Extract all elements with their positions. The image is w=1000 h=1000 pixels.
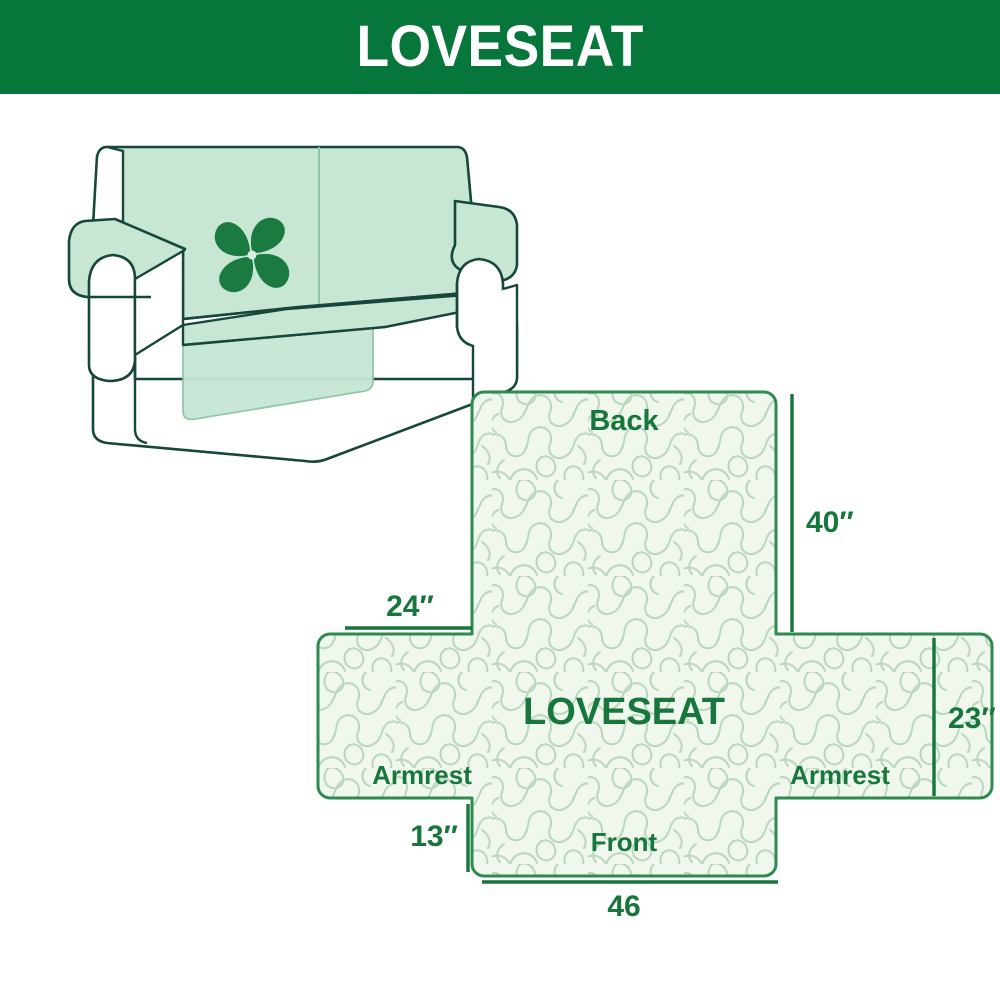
panel-label-armrest-left: Armrest — [372, 760, 472, 790]
dimension-back-height: 40″ — [792, 394, 854, 632]
panel-label-front: Front — [591, 827, 658, 857]
panel-label-center: LOVESEAT — [523, 691, 725, 733]
panel-label-back: Back — [589, 405, 659, 437]
armrest-left-roll — [89, 255, 135, 381]
flat-pattern-diagram: Back LOVESEAT Armrest Armrest Front 40″ … — [300, 384, 1000, 974]
svg-text:24″: 24″ — [386, 590, 434, 623]
page-title: LOVESEAT — [356, 18, 643, 76]
header-banner: LOVESEAT — [0, 0, 1000, 94]
panel-label-armrest-right: Armrest — [790, 760, 890, 790]
svg-text:13″: 13″ — [410, 820, 458, 853]
svg-text:40″: 40″ — [806, 506, 854, 539]
svg-text:23″: 23″ — [948, 702, 996, 735]
dimension-total-width: 46 — [482, 882, 778, 923]
dimension-front-height: 13″ — [410, 804, 468, 872]
svg-text:46: 46 — [607, 890, 640, 923]
dimension-back-width: 24″ — [345, 590, 472, 628]
cover-body-texture — [300, 384, 1000, 974]
content-area: Back LOVESEAT Armrest Armrest Front 40″ … — [0, 94, 1000, 1000]
